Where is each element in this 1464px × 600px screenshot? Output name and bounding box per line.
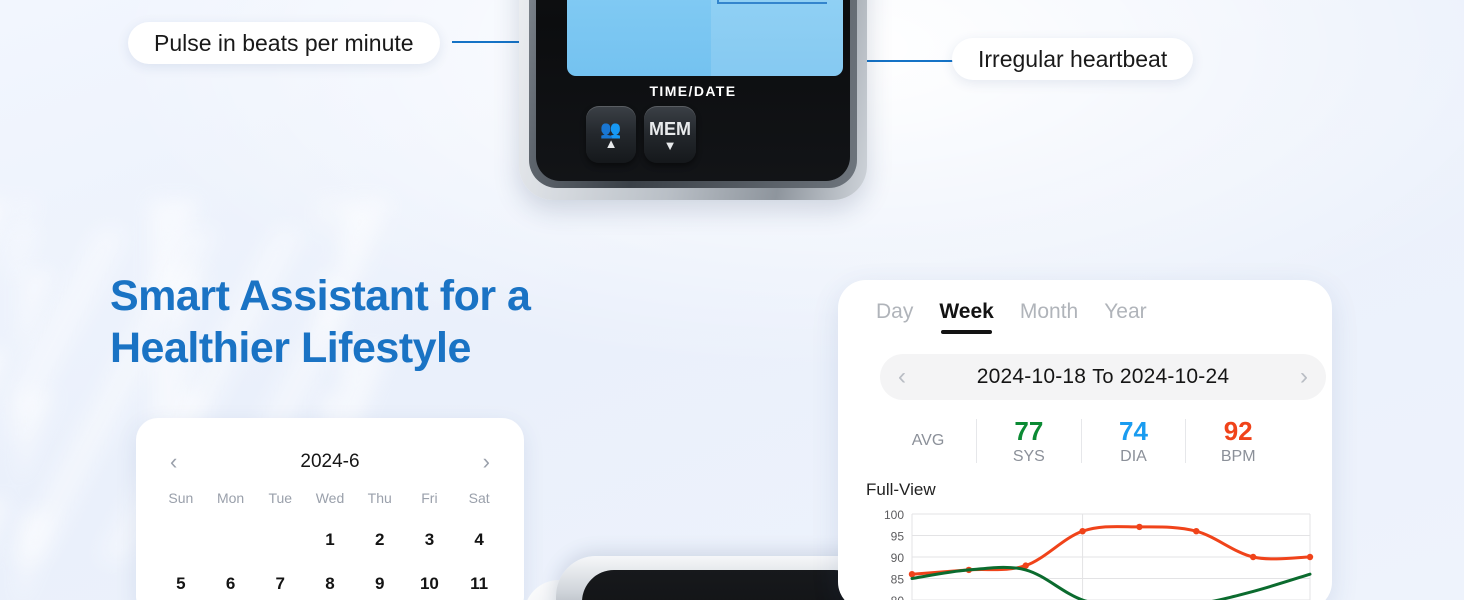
stat-bpm-value: 92 bbox=[1186, 416, 1290, 446]
calendar-day-empty: . bbox=[206, 530, 256, 550]
date-range-end: 2024-10-24 bbox=[1120, 365, 1229, 388]
headline-line-2: Healthier Lifestyle bbox=[110, 322, 670, 374]
calendar-card: ‹ 2024-6 › SunMonTueWedThuFriSat...12345… bbox=[136, 418, 524, 600]
stat-bpm: 92 BPM bbox=[1186, 416, 1290, 466]
calendar-weekday-sat: Sat bbox=[454, 490, 504, 506]
blood-pressure-monitor-secondary: RENPHO bbox=[556, 556, 886, 600]
callout-pulse: Pulse in beats per minute bbox=[128, 22, 440, 64]
chevron-up-icon: ▲ bbox=[605, 138, 618, 149]
chevron-left-icon[interactable]: ‹ bbox=[170, 451, 177, 473]
date-range-text: 2024-10-18 To 2024-10-24 bbox=[906, 365, 1300, 389]
user-select-button[interactable]: 👥 ▲ bbox=[586, 106, 636, 163]
average-stats-row: AVG 77 SYS 74 DIA 92 BPM bbox=[880, 412, 1290, 470]
tab-week[interactable]: Week bbox=[939, 300, 993, 334]
calendar-weekday-sun: Sun bbox=[156, 490, 206, 506]
chart-title: Full-View bbox=[866, 480, 936, 500]
stat-sys: 77 SYS bbox=[977, 416, 1081, 466]
chart-data-point bbox=[1079, 528, 1085, 534]
chart-y-tick: 95 bbox=[891, 530, 905, 544]
memory-button[interactable]: MEM ▼ bbox=[644, 106, 696, 163]
calendar-grid: SunMonTueWedThuFriSat...1234567891011 bbox=[156, 490, 504, 594]
stat-dia: 74 DIA bbox=[1082, 416, 1186, 466]
calendar-weekday-fri: Fri bbox=[405, 490, 455, 506]
chart-data-point bbox=[1193, 528, 1199, 534]
callout-pulse-label: Pulse in beats per minute bbox=[154, 30, 414, 57]
blood-pressure-monitor-device: D M Y 11:59 ❤❤❤ 70 PUL /min TIME/DATE 👥 … bbox=[519, 0, 867, 200]
date-range-start: 2024-10-18 bbox=[977, 365, 1086, 388]
callout-leader-stub bbox=[717, 0, 719, 4]
chart-y-tick: 100 bbox=[884, 508, 904, 522]
tab-year[interactable]: Year bbox=[1104, 300, 1146, 334]
time-date-label: TIME/DATE bbox=[536, 83, 850, 99]
screenshot-stage: D M Y 11:59 ❤❤❤ 70 PUL /min TIME/DATE 👥 … bbox=[0, 0, 1464, 600]
stat-sys-value: 77 bbox=[977, 416, 1081, 446]
callout-leader-underline bbox=[717, 2, 827, 4]
tab-month[interactable]: Month bbox=[1020, 300, 1078, 334]
chart-y-tick: 80 bbox=[891, 594, 905, 600]
chart-data-point bbox=[1250, 554, 1256, 560]
chart-y-tick: 85 bbox=[891, 573, 905, 587]
app-analytics-card: DayWeekMonthYear ‹ 2024-10-18 To 2024-10… bbox=[838, 280, 1332, 600]
calendar-day-empty: . bbox=[156, 530, 206, 550]
calendar-day[interactable]: 3 bbox=[405, 530, 455, 550]
chart-y-tick: 90 bbox=[891, 551, 905, 565]
chart-data-point bbox=[1136, 524, 1142, 530]
device-face: D M Y 11:59 ❤❤❤ 70 PUL /min TIME/DATE 👥 … bbox=[536, 0, 850, 181]
calendar-day[interactable]: 2 bbox=[355, 530, 405, 550]
chevron-down-icon: ▼ bbox=[664, 140, 677, 151]
date-range-separator: To bbox=[1092, 366, 1114, 388]
blood-pressure-chart: 10095908580 bbox=[866, 502, 1318, 600]
avg-label: AVG bbox=[880, 432, 976, 450]
page-title: Smart Assistant for a Healthier Lifestyl… bbox=[110, 270, 670, 374]
calendar-day-empty: . bbox=[255, 530, 305, 550]
device-face-bottom: RENPHO bbox=[582, 570, 866, 600]
calendar-day[interactable]: 9 bbox=[355, 574, 405, 594]
stat-dia-unit: DIA bbox=[1082, 448, 1186, 466]
calendar-day[interactable]: 6 bbox=[206, 574, 256, 594]
chevron-right-icon[interactable]: › bbox=[1300, 365, 1308, 389]
chevron-left-icon[interactable]: ‹ bbox=[898, 365, 906, 389]
chevron-right-icon[interactable]: › bbox=[483, 451, 490, 473]
lcd-screen: D M Y 11:59 ❤❤❤ 70 bbox=[567, 0, 843, 76]
mem-button-label: MEM bbox=[649, 119, 691, 140]
calendar-title: 2024-6 bbox=[177, 451, 482, 473]
stat-bpm-unit: BPM bbox=[1186, 448, 1290, 466]
calendar-day[interactable]: 4 bbox=[454, 530, 504, 550]
chart-data-point bbox=[1307, 554, 1313, 560]
calendar-day[interactable]: 7 bbox=[255, 574, 305, 594]
calendar-header: ‹ 2024-6 › bbox=[136, 448, 524, 476]
stat-sys-unit: SYS bbox=[977, 448, 1081, 466]
callout-irregular-label: Irregular heartbeat bbox=[978, 46, 1167, 73]
calendar-day[interactable]: 5 bbox=[156, 574, 206, 594]
two-users-icon: 👥 bbox=[600, 121, 621, 138]
headline-line-1: Smart Assistant for a bbox=[110, 270, 670, 322]
chart-line-sys bbox=[912, 567, 1310, 600]
stat-dia-value: 74 bbox=[1082, 416, 1186, 446]
calendar-day[interactable]: 1 bbox=[305, 530, 355, 550]
calendar-day[interactable]: 8 bbox=[305, 574, 355, 594]
calendar-day[interactable]: 11 bbox=[454, 574, 504, 594]
period-tabs: DayWeekMonthYear bbox=[876, 300, 1147, 334]
calendar-weekday-thu: Thu bbox=[355, 490, 405, 506]
date-range-selector[interactable]: ‹ 2024-10-18 To 2024-10-24 › bbox=[880, 354, 1326, 400]
callout-irregular-heartbeat: Irregular heartbeat bbox=[952, 38, 1193, 80]
calendar-day[interactable]: 10 bbox=[405, 574, 455, 594]
tab-day[interactable]: Day bbox=[876, 300, 913, 334]
chart-line-bpm bbox=[912, 527, 1310, 575]
chart-data-point bbox=[909, 571, 915, 577]
calendar-weekday-wed: Wed bbox=[305, 490, 355, 506]
calendar-weekday-tue: Tue bbox=[255, 490, 305, 506]
calendar-weekday-mon: Mon bbox=[206, 490, 256, 506]
